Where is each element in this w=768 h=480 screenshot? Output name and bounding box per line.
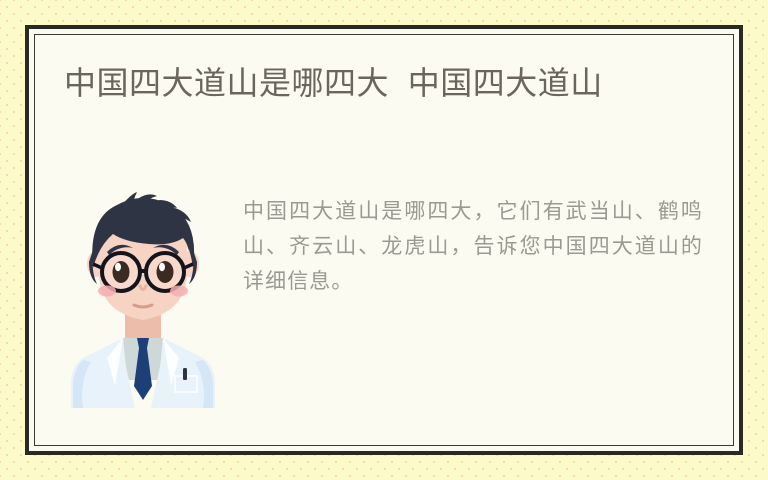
avatar [35, 190, 243, 408]
outer-frame: 中国四大道山是哪四大 中国四大道山 [25, 25, 743, 455]
man-with-glasses-illustration [63, 190, 223, 408]
body-text-cell: 中国四大道山是哪四大，它们有武当山、鹤鸣山、齐云山、龙虎山，告诉您中国四大道山的… [243, 190, 733, 299]
body-paragraph: 中国四大道山是哪四大，它们有武当山、鹤鸣山、齐云山、龙虎山，告诉您中国四大道山的… [243, 190, 703, 299]
poster-canvas: 中国四大道山是哪四大 中国四大道山 [0, 0, 768, 480]
page-title: 中国四大道山是哪四大 中国四大道山 [64, 61, 674, 105]
inner-frame: 中国四大道山是哪四大 中国四大道山 [34, 34, 734, 446]
content-row: 中国四大道山是哪四大，它们有武当山、鹤鸣山、齐云山、龙虎山，告诉您中国四大道山的… [35, 190, 733, 408]
